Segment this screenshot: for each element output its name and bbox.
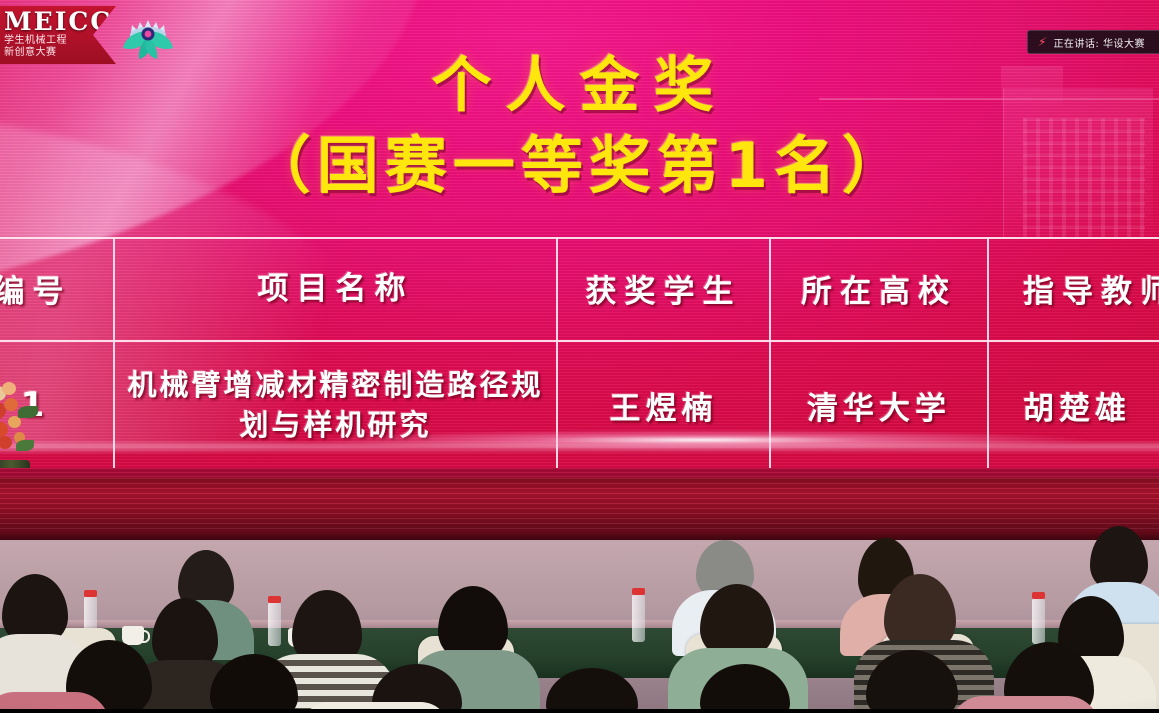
video-frame: 个人金奖 （国赛一等奖第1名） 编号 项目名称 获奖学生 所在高校 指导教师 1… — [0, 0, 1159, 713]
water-bottle — [1032, 598, 1045, 644]
table-header-student: 获奖学生 — [558, 237, 771, 340]
table-header-university: 所在高校 — [771, 237, 989, 340]
speaker-status-text: 正在讲话: 华设大赛 — [1053, 35, 1145, 50]
table-row: 1 机械臂增减材精密制造路径规划与样机研究 王煜楠 清华大学 胡楚雄 — [0, 340, 1159, 470]
stage-red-wall — [0, 478, 1159, 530]
speaker-status-overlay[interactable]: ⚡ 正在讲话: 华设大赛 — [1027, 30, 1159, 54]
slide-subtitle: （国赛一等奖第1名） — [0, 131, 1159, 201]
speaker-lightning-icon: ⚡ — [1037, 36, 1048, 48]
table-header-number: 编号 — [0, 237, 115, 340]
auditorium-audience — [0, 478, 1159, 713]
water-bottle — [632, 594, 645, 642]
award-table: 编号 项目名称 获奖学生 所在高校 指导教师 1 机械臂增减材精密制造路径规划与… — [0, 237, 1159, 470]
table-header-row: 编号 项目名称 获奖学生 所在高校 指导教师 — [0, 237, 1159, 340]
stage-edge — [0, 530, 1159, 540]
cell-student: 王煜楠 — [558, 340, 771, 470]
cell-teacher: 胡楚雄 — [989, 340, 1159, 470]
competition-emblem-icon — [117, 17, 179, 63]
cell-project: 机械臂增减材精密制造路径规划与样机研究 — [115, 340, 558, 470]
water-bottle — [268, 602, 281, 646]
table-header-project: 项目名称 — [115, 237, 558, 340]
table-header-teacher: 指导教师 — [989, 237, 1159, 340]
cell-university: 清华大学 — [771, 340, 989, 470]
projection-screen: 个人金奖 （国赛一等奖第1名） 编号 项目名称 获奖学生 所在高校 指导教师 1… — [0, 0, 1159, 478]
banner-line-2: 新创意大赛 — [4, 47, 116, 59]
letterbox-bottom — [0, 709, 1159, 713]
floral-arrangement — [0, 380, 54, 478]
tea-cup — [122, 626, 144, 645]
screen-lower-band — [0, 468, 1159, 478]
slide-title: 个人金奖 — [0, 54, 1159, 118]
